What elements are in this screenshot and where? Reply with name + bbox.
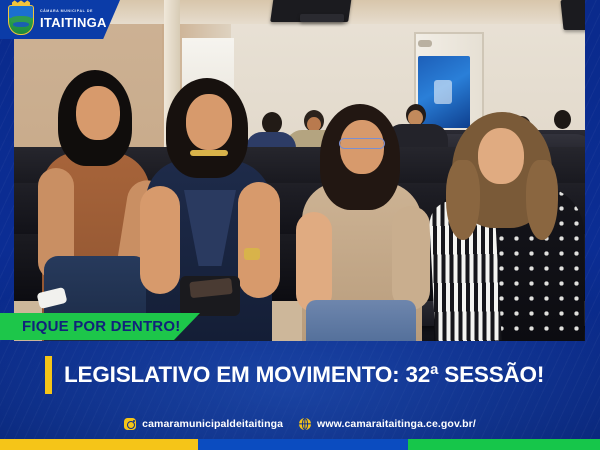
person-head: [262, 112, 282, 134]
session-photo: [14, 0, 585, 341]
person-arm: [392, 206, 430, 310]
photo-content: [14, 0, 585, 341]
instagram-icon: [124, 418, 136, 430]
logo-name: ITAITINGA: [40, 16, 107, 29]
fique-por-dentro-ribbon: FIQUE POR DENTRO!: [0, 313, 200, 340]
door-sign: [418, 40, 432, 47]
person-arm: [140, 186, 180, 294]
social-footer: camaramunicipaldeitaitinga www.camaraita…: [0, 414, 600, 434]
ribbon-label: FIQUE POR DENTRO!: [0, 318, 180, 335]
headline-accent-bar: [45, 356, 52, 394]
person-face: [478, 128, 524, 184]
municipal-coat-of-arms-icon: [8, 5, 34, 35]
logo-banner: CÂMARA MUNICIPAL DE ITAITINGA: [0, 0, 120, 39]
globe-icon: [299, 418, 311, 430]
strip-segment-blue: [198, 439, 408, 450]
person-arm: [238, 182, 280, 298]
instagram-handle-label: camaramunicipaldeitaitinga: [142, 418, 283, 430]
strip-segment-green: [408, 439, 600, 450]
strip-segment-yellow: [0, 439, 198, 450]
website-url-label: www.camaraitaitinga.ce.gov.br/: [317, 418, 476, 430]
necklace-icon: [190, 150, 228, 156]
headline-block: LEGISLATIVO EM MOVIMENTO: 32ª SESSÃO!: [45, 354, 544, 396]
page-title: LEGISLATIVO EM MOVIMENTO: 32ª SESSÃO!: [64, 362, 544, 388]
person-face: [76, 86, 120, 140]
instagram-handle-item[interactable]: camaramunicipaldeitaitinga: [124, 418, 283, 430]
person-jeans: [306, 300, 416, 341]
social-media-post-card: CÂMARA MUNICIPAL DE ITAITINGA FIQUE POR …: [0, 0, 600, 450]
person-face: [186, 94, 232, 150]
person-hair-curl: [526, 160, 558, 240]
person-head: [554, 110, 571, 129]
person-hair-curl: [446, 160, 480, 240]
crest-shield-icon: [8, 5, 34, 35]
logo-text-block: CÂMARA MUNICIPAL DE ITAITINGA: [40, 10, 107, 29]
wristwatch-icon: [244, 248, 260, 260]
ceiling-speaker-bracket-icon: [300, 14, 344, 22]
ceiling-speaker-right-icon: [560, 0, 585, 30]
logo-superline: CÂMARA MUNICIPAL DE: [40, 10, 107, 14]
website-url-item[interactable]: www.camaraitaitinga.ce.gov.br/: [299, 418, 476, 430]
bottom-color-strip: [0, 439, 600, 450]
eyeglasses-icon: [339, 138, 385, 149]
person-arm: [296, 212, 332, 312]
